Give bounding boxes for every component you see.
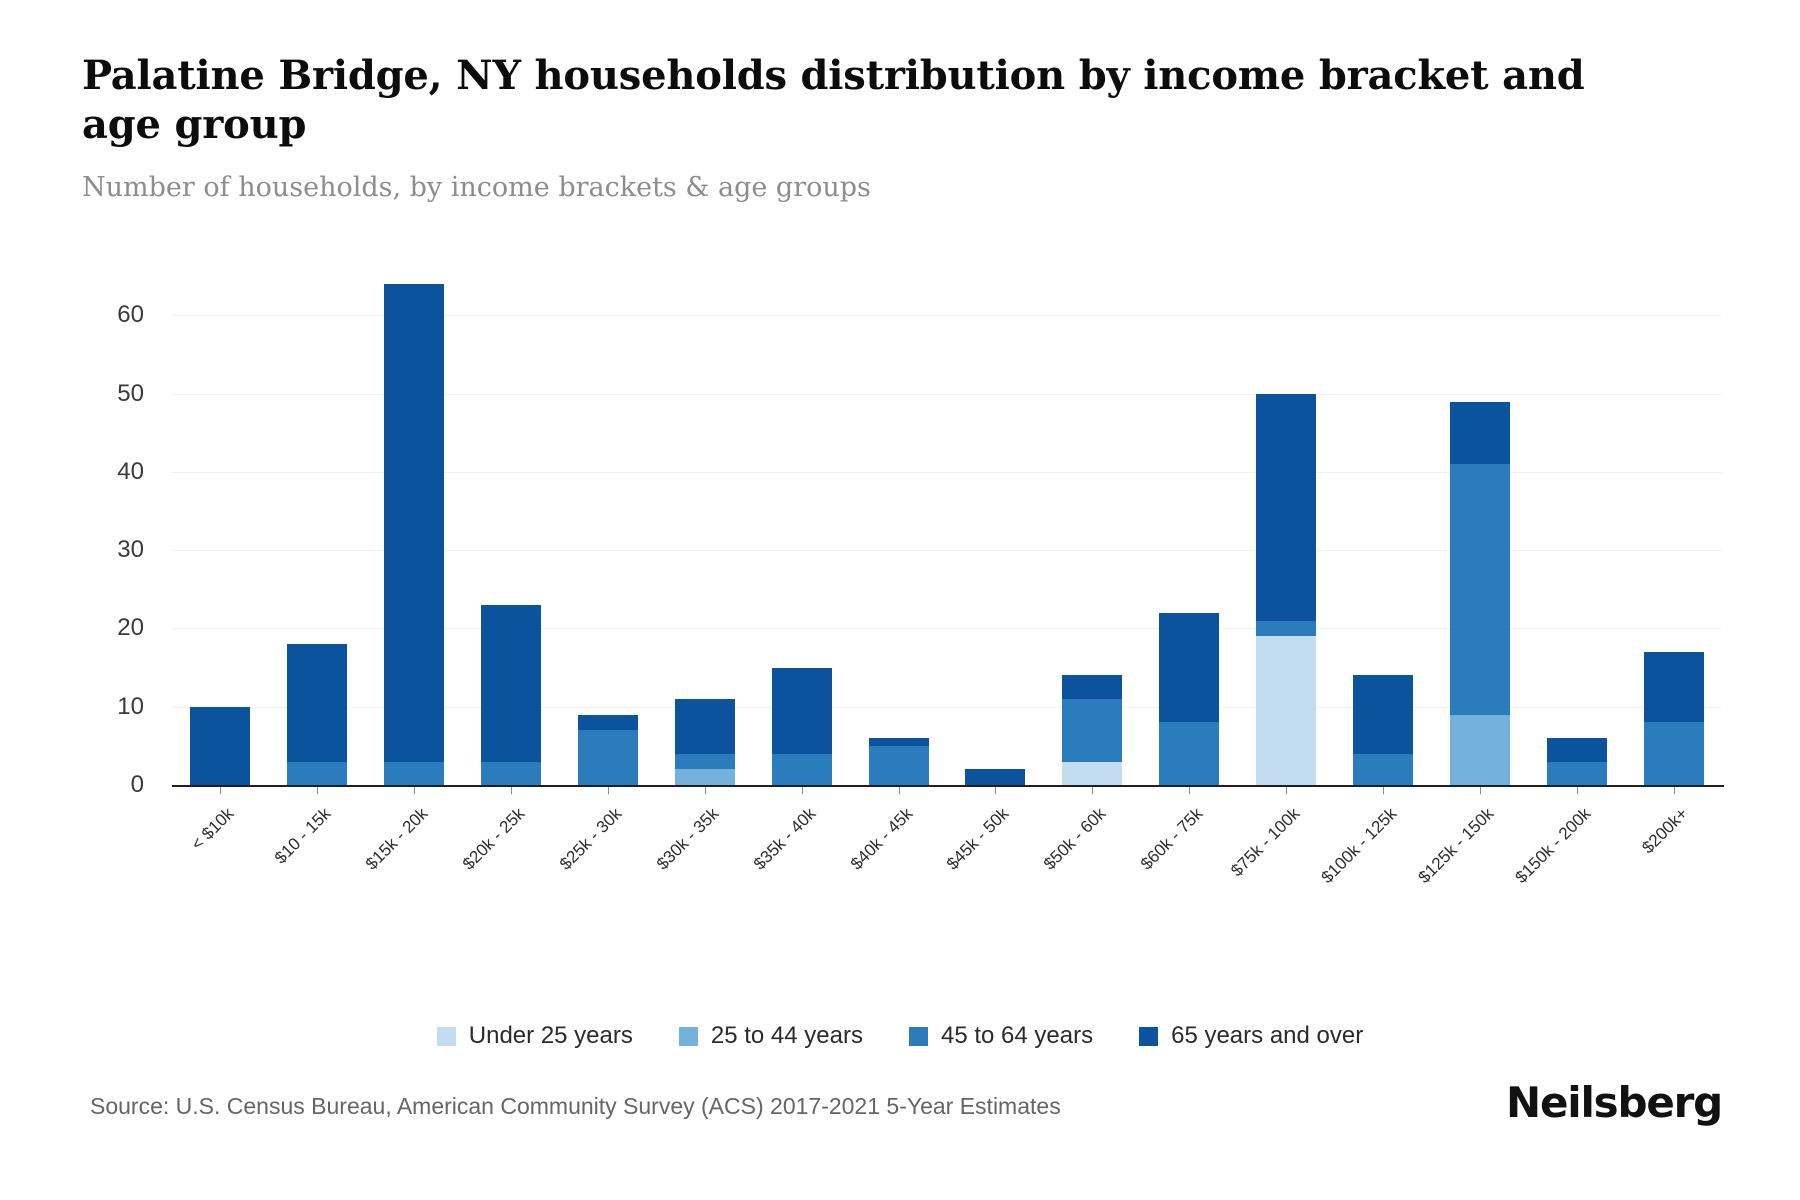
bar-segment[interactable] [1159,613,1219,723]
x-axis-label: $125k - 150k [1414,804,1498,888]
y-axis-tick-label: 60 [117,301,144,329]
x-axis-label: $75k - 100k [1227,804,1304,881]
bar-segment[interactable] [1353,754,1413,785]
bar-stack[interactable] [772,668,832,785]
bar-segment[interactable] [1450,464,1510,714]
bar-group[interactable] [384,270,444,785]
bar-stack[interactable] [578,715,638,785]
bar-group[interactable] [578,270,638,785]
bar-segment[interactable] [384,284,444,761]
y-axis-tick-label: 0 [131,771,144,799]
bar-segment[interactable] [772,754,832,785]
legend-swatch-icon [1139,1027,1158,1046]
bar-stack[interactable] [1256,394,1316,785]
bar-group[interactable] [965,270,1025,785]
legend-label: 25 to 44 years [711,1022,863,1050]
legend-label: 45 to 64 years [941,1022,1093,1050]
bar-segment[interactable] [1644,652,1704,722]
bar-segment[interactable] [1062,762,1122,785]
y-axis-tick-label: 20 [117,614,144,642]
bar-segment[interactable] [287,644,347,761]
bar-group[interactable] [1062,270,1122,785]
legend-swatch-icon [437,1027,456,1046]
bar-segment[interactable] [481,762,541,785]
bar-segment[interactable] [1062,675,1122,698]
legend-item[interactable]: 25 to 44 years [679,1022,863,1050]
chart-legend: Under 25 years25 to 44 years45 to 64 yea… [0,1022,1800,1050]
bar-segment[interactable] [1450,715,1510,785]
y-axis-tick-label: 40 [117,458,144,486]
bar-group[interactable] [1256,270,1316,785]
bar-group[interactable] [869,270,929,785]
bar-stack[interactable] [1547,738,1607,785]
bar-group[interactable] [481,270,541,785]
bar-group[interactable] [287,270,347,785]
bar-segment[interactable] [869,738,929,746]
bar-group[interactable] [1353,270,1413,785]
legend-item[interactable]: 65 years and over [1139,1022,1363,1050]
bar-segment[interactable] [1159,722,1219,785]
bar-stack[interactable] [384,284,444,785]
bar-segment[interactable] [1256,394,1316,621]
bar-stack[interactable] [965,769,1025,785]
bar-stack[interactable] [1644,652,1704,785]
bar-group[interactable] [1547,270,1607,785]
bar-segment[interactable] [1644,722,1704,785]
bar-stack[interactable] [1062,675,1122,785]
bar-segment[interactable] [1062,699,1122,762]
bar-segment[interactable] [190,707,250,785]
bar-segment[interactable] [1547,738,1607,761]
bar-segment[interactable] [675,754,735,770]
legend-item[interactable]: 45 to 64 years [909,1022,1093,1050]
bar-segment[interactable] [481,605,541,762]
brand-logo: Neilsberg [1506,1078,1722,1127]
x-axis-label: $15k - 20k [362,804,432,874]
x-axis-label: $35k - 40k [750,804,820,874]
x-axis-label: $150k - 200k [1511,804,1595,888]
bar-segment[interactable] [1256,621,1316,637]
y-axis: 0102030405060 [0,270,172,785]
x-axis-label: $200k+ [1638,804,1692,858]
x-axis-label: $40k - 45k [846,804,916,874]
bar-segment[interactable] [384,762,444,785]
y-axis-tick-label: 50 [117,380,144,408]
legend-label: Under 25 years [469,1022,633,1050]
bar-segment[interactable] [578,730,638,785]
chart-plot-wrapper: 0102030405060 < $10k$10 - 15k$15k - 20k$… [0,270,1800,910]
x-axis-label: $100k - 125k [1317,804,1401,888]
bar-segment[interactable] [287,762,347,785]
bar-series-container: < $10k$10 - 15k$15k - 20k$20k - 25k$25k … [172,270,1722,785]
y-axis-tick-label: 10 [117,693,144,721]
x-axis-line [172,785,1724,787]
x-axis-label: $10 - 15k [271,804,335,868]
legend-swatch-icon [909,1027,928,1046]
bar-stack[interactable] [481,605,541,785]
bar-group[interactable] [1159,270,1219,785]
x-axis-label: $25k - 30k [556,804,626,874]
bar-segment[interactable] [675,699,735,754]
bar-segment[interactable] [1450,402,1510,465]
bar-segment[interactable] [1256,636,1316,785]
bar-group[interactable] [1450,270,1510,785]
bar-stack[interactable] [190,707,250,785]
page-title: Palatine Bridge, NY households distribut… [82,52,1652,150]
bar-stack[interactable] [869,738,929,785]
source-note: Source: U.S. Census Bureau, American Com… [90,1093,1061,1120]
chart-header: Palatine Bridge, NY households distribut… [82,52,1722,203]
bar-stack[interactable] [1159,613,1219,785]
bar-stack[interactable] [675,699,735,785]
x-axis-label: $45k - 50k [943,804,1013,874]
legend-item[interactable]: Under 25 years [437,1022,633,1050]
legend-label: 65 years and over [1171,1022,1363,1050]
chart-page: Palatine Bridge, NY households distribut… [0,0,1800,1200]
bar-segment[interactable] [965,769,1025,785]
bar-segment[interactable] [1547,762,1607,785]
bar-group[interactable] [772,270,832,785]
bar-stack[interactable] [1353,675,1413,785]
x-axis-label: $60k - 75k [1137,804,1207,874]
bar-segment[interactable] [675,769,735,785]
bar-stack[interactable] [1450,402,1510,786]
bar-group[interactable] [675,270,735,785]
bar-group[interactable] [190,270,250,785]
bar-segment[interactable] [1353,675,1413,753]
bar-segment[interactable] [772,668,832,754]
x-axis-label: < $10k [188,804,239,855]
x-axis-label: $20k - 25k [459,804,529,874]
bar-segment[interactable] [869,746,929,785]
bar-stack[interactable] [287,644,347,785]
x-axis-label: $30k - 35k [653,804,723,874]
y-axis-tick-label: 30 [117,536,144,564]
x-axis-label: $50k - 60k [1040,804,1110,874]
bar-segment[interactable] [578,715,638,731]
bar-group[interactable] [1644,270,1704,785]
chart-subtitle: Number of households, by income brackets… [82,172,1722,203]
legend-swatch-icon [679,1027,698,1046]
